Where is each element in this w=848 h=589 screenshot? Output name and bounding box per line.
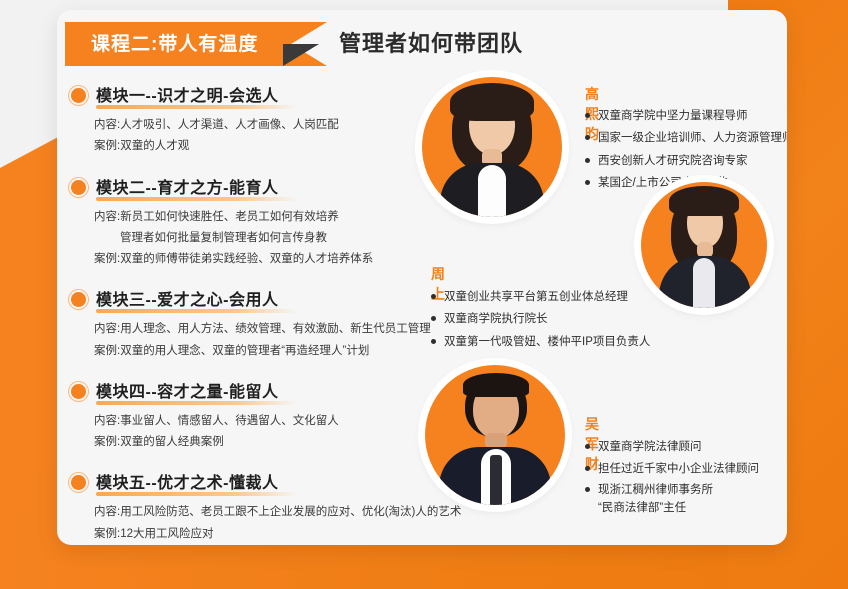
module-line: 内容:用人理念、用人方法、绩效管理、有效激励、新生代员工管理 bbox=[94, 319, 443, 340]
credential-item: 双童商学院中坚力量课程导师 bbox=[585, 105, 787, 127]
credential-item: 现浙江稠州律师事务所 “民商法律部”主任 bbox=[585, 481, 759, 518]
ring-bullet-icon bbox=[71, 180, 86, 195]
module-heading: 模块五--优才之术-懂裁人 bbox=[71, 469, 443, 495]
module-item: 模块二--育才之方-能育人 内容:新员工如何快速胜任、老员工如何有效培养 管理者… bbox=[71, 174, 443, 271]
module-line: 内容:用工风险防范、老员工跟不上企业发展的应对、优化(淘汰)人的艺术 bbox=[94, 502, 443, 523]
module-line: 案例:双童的用人理念、双童的管理者“再造经理人”计划 bbox=[94, 341, 443, 362]
avatar bbox=[641, 182, 767, 308]
module-item: 模块一--识才之明-会选人 内容:人才吸引、人才渠道、人才画像、人岗匹配 案例:… bbox=[71, 82, 443, 158]
module-line: 管理者如何批量复制管理者如何言传身教 bbox=[94, 228, 443, 249]
module-detail-lines: 内容:人才吸引、人才渠道、人才画像、人岗匹配 案例:双童的人才观 bbox=[94, 115, 443, 158]
ring-bullet-icon bbox=[71, 475, 86, 490]
module-heading: 模块四--容才之量-能留人 bbox=[71, 378, 443, 404]
page-title: 管理者如何带团队 bbox=[339, 26, 523, 58]
module-title: 模块一--识才之明-会选人 bbox=[96, 82, 279, 108]
module-detail-lines: 内容:用人理念、用人方法、绩效管理、有效激励、新生代员工管理 案例:双童的用人理… bbox=[94, 319, 443, 362]
module-line: 案例:12大用工风险应对 bbox=[94, 524, 443, 545]
credential-line-secondary: “民商法律部”主任 bbox=[598, 499, 759, 517]
portrait-illustration bbox=[425, 365, 565, 505]
person-credentials: 双童创业共享平台第五创业体总经理 双童商学院执行院长 双童第一代吸管妞、楼仲平I… bbox=[431, 286, 650, 353]
module-title: 模块四--容才之量-能留人 bbox=[96, 378, 279, 404]
ribbon-notch-shape bbox=[283, 44, 319, 66]
credential-item: 双童第一代吸管妞、楼仲平IP项目负责人 bbox=[431, 331, 650, 353]
module-list: 模块一--识才之明-会选人 内容:人才吸引、人才渠道、人才画像、人岗匹配 案例:… bbox=[71, 82, 443, 545]
module-title: 模块二--育才之方-能育人 bbox=[96, 174, 279, 200]
module-item: 模块三--爱才之心-会用人 内容:用人理念、用人方法、绩效管理、有效激励、新生代… bbox=[71, 286, 443, 362]
module-line: 案例:双童的人才观 bbox=[94, 136, 443, 157]
ring-bullet-icon bbox=[71, 384, 86, 399]
credential-item: 国家一级企业培训师、人力资源管理师 bbox=[585, 127, 787, 149]
credential-line-primary: 现浙江稠州律师事务所 bbox=[598, 484, 713, 496]
module-detail-lines: 内容:事业留人、情感留人、待遇留人、文化留人 案例:双童的留人经典案例 bbox=[94, 411, 443, 454]
content-card: 课程二:带人有温度 管理者如何带团队 模块一--识才之明-会选人 内容:人才吸引… bbox=[57, 10, 787, 545]
credential-item: 双童创业共享平台第五创业体总经理 bbox=[431, 286, 650, 308]
credential-item: 西安创新人才研究院咨询专家 bbox=[585, 150, 787, 172]
slide-header: 课程二:带人有温度 管理者如何带团队 bbox=[57, 22, 787, 70]
module-detail-lines: 内容:用工风险防范、老员工跟不上企业发展的应对、优化(淘汰)人的艺术 案例:12… bbox=[94, 502, 443, 545]
ring-bullet-icon bbox=[71, 292, 86, 307]
avatar bbox=[425, 365, 565, 505]
module-heading: 模块三--爱才之心-会用人 bbox=[71, 286, 443, 312]
module-title: 模块五--优才之术-懂裁人 bbox=[96, 469, 279, 495]
module-item: 模块五--优才之术-懂裁人 内容:用工风险防范、老员工跟不上企业发展的应对、优化… bbox=[71, 469, 443, 545]
portrait-illustration bbox=[641, 182, 767, 308]
portrait-illustration bbox=[422, 77, 562, 217]
module-line: 案例:双童的留人经典案例 bbox=[94, 432, 443, 453]
module-detail-lines: 内容:新员工如何快速胜任、老员工如何有效培养 管理者如何批量复制管理者如何言传身… bbox=[94, 207, 443, 271]
person-credentials: 双童商学院法律顾问 担任过近千家中小企业法律顾问 现浙江稠州律师事务所 “民商法… bbox=[585, 436, 759, 518]
module-heading: 模块一--识才之明-会选人 bbox=[71, 82, 443, 108]
credential-item: 双童商学院法律顾问 bbox=[585, 436, 759, 458]
module-line: 内容:新员工如何快速胜任、老员工如何有效培养 bbox=[94, 207, 443, 228]
credential-item: 双童商学院执行院长 bbox=[431, 308, 650, 330]
module-heading: 模块二--育才之方-能育人 bbox=[71, 174, 443, 200]
module-line: 内容:人才吸引、人才渠道、人才画像、人岗匹配 bbox=[94, 115, 443, 136]
module-line: 案例:双童的师傅带徒弟实践经验、双童的人才培养体系 bbox=[94, 249, 443, 270]
avatar bbox=[422, 77, 562, 217]
credential-item: 担任过近千家中小企业法律顾问 bbox=[585, 458, 759, 480]
ring-bullet-icon bbox=[71, 88, 86, 103]
module-line: 内容:事业留人、情感留人、待遇留人、文化留人 bbox=[94, 411, 443, 432]
module-title: 模块三--爱才之心-会用人 bbox=[96, 286, 279, 312]
course-ribbon-label: 课程二:带人有温度 bbox=[91, 35, 258, 54]
module-item: 模块四--容才之量-能留人 内容:事业留人、情感留人、待遇留人、文化留人 案例:… bbox=[71, 378, 443, 454]
slide-canvas: 课程二:带人有温度 管理者如何带团队 模块一--识才之明-会选人 内容:人才吸引… bbox=[0, 0, 848, 589]
